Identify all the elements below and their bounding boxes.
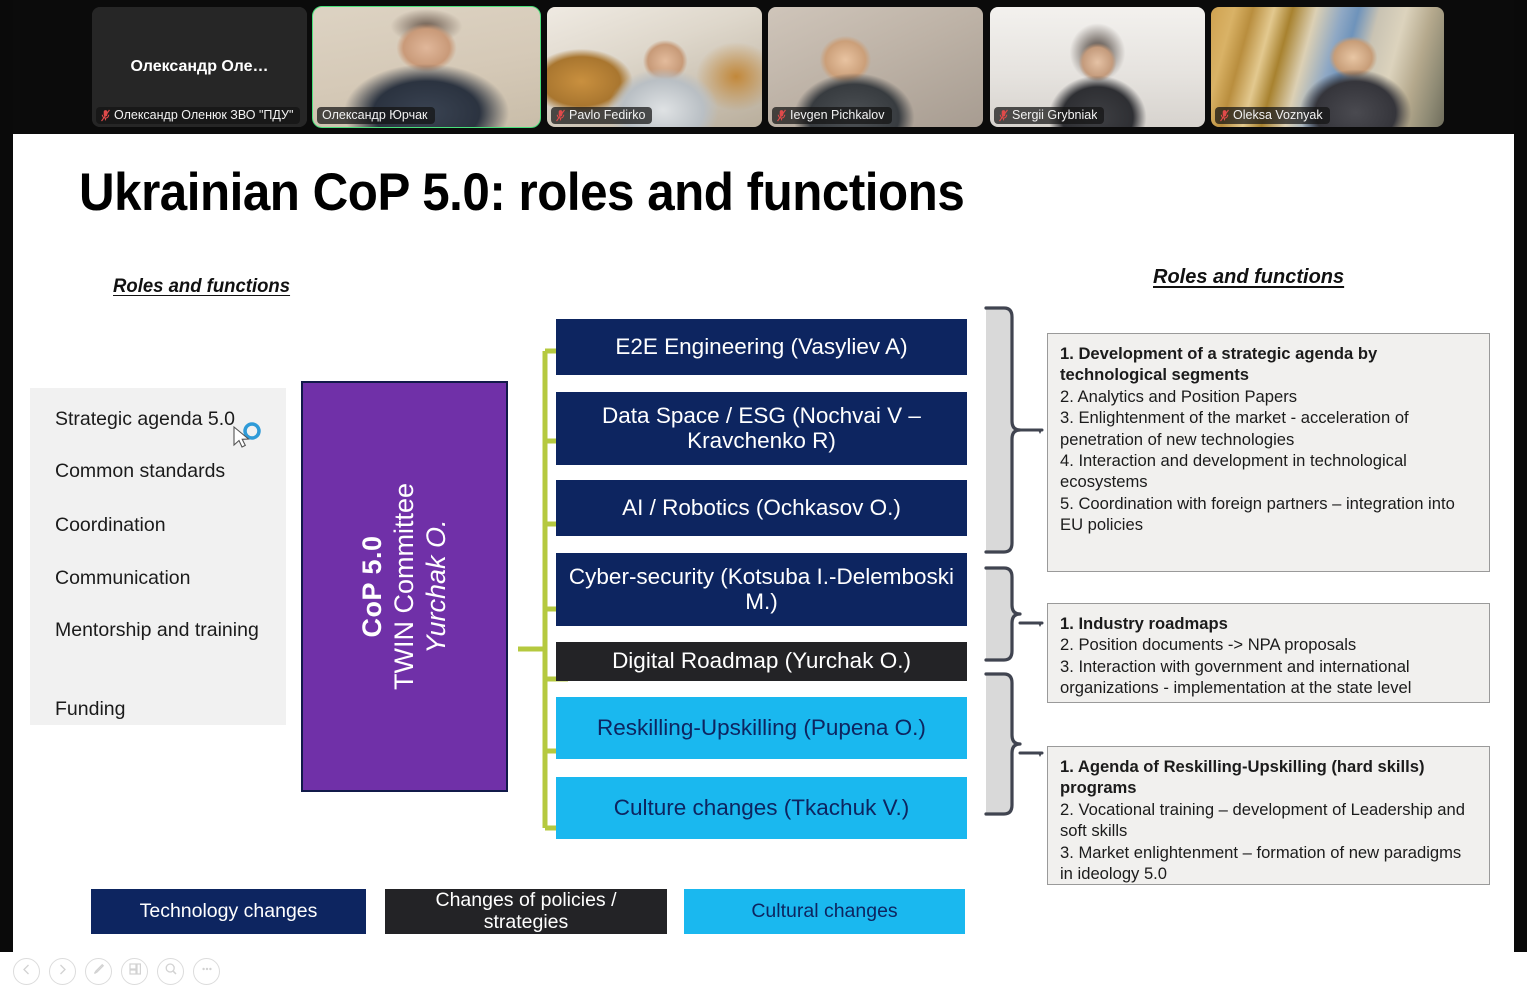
committee-label: Digital Roadmap (Yurchak O.): [612, 649, 911, 673]
roles-functions-info-box: 1. Industry roadmaps2. Position document…: [1047, 603, 1490, 703]
participant-name: Олександр Юрчак: [322, 108, 428, 122]
roles-and-functions-heading-right: Roles and functions: [1153, 266, 1344, 289]
info-box-line: 2. Vocational training – development of …: [1060, 799, 1478, 842]
video-tile-5[interactable]: Sergii Grybniak: [990, 7, 1205, 127]
annotate-pen-button[interactable]: [85, 958, 112, 985]
slide-grid-button[interactable]: [121, 958, 148, 985]
info-box-line: 5. Coordination with foreign partners – …: [1060, 493, 1478, 536]
participant-name-badge: Pavlo Fedirko: [551, 107, 652, 124]
participant-placeholder-name: Олександр Оле…: [92, 58, 307, 76]
participant-name-badge: Oleksa Voznyak: [1215, 107, 1330, 124]
info-box-line: 1. Agenda of Reskilling-Upskilling (hard…: [1060, 756, 1478, 799]
zoom-magnifier-button[interactable]: [157, 958, 184, 985]
legend-item: Technology changes: [91, 889, 366, 934]
info-box-line: 1. Industry roadmaps: [1060, 613, 1478, 634]
muted-microphone-icon: [101, 109, 110, 122]
legend-item: Changes of policies / strategies: [385, 889, 667, 934]
participant-name-badge: Ievgen Pichkalov: [772, 107, 892, 124]
mouse-cursor: [228, 422, 262, 452]
participant-name: Sergii Grybniak: [1012, 108, 1097, 122]
page-title: Ukrainian CoP 5.0: roles and functions: [79, 162, 964, 223]
roles-list-item: Mentorship and training: [55, 617, 276, 643]
roles-functions-info-box: 1. Agenda of Reskilling-Upskilling (hard…: [1047, 746, 1490, 885]
committee-lead-label: Yurchak O.: [421, 519, 452, 653]
committee-box[interactable]: E2E Engineering (Vasyliev A): [556, 319, 967, 375]
info-box-line: 2. Analytics and Position Papers: [1060, 386, 1478, 407]
committee-box[interactable]: Cyber-security (Kotsuba I.-Delemboski M.…: [556, 553, 967, 626]
more-options-icon: [200, 962, 214, 981]
committee-label: AI / Robotics (Ochkasov O.): [622, 496, 901, 520]
video-tile-1[interactable]: Олександр Оле…Олександр Оленюк ЗВО "ПДУ": [92, 7, 307, 127]
participant-name-badge: Олександр Оленюк ЗВО "ПДУ": [96, 107, 300, 124]
info-box-line: 2. Position documents -> NPA proposals: [1060, 634, 1478, 655]
info-box-line: 1. Development of a strategic agenda by …: [1060, 343, 1478, 386]
committee-box[interactable]: Culture changes (Tkachuk V.): [556, 777, 967, 839]
previous-slide-button[interactable]: [13, 958, 40, 985]
next-slide-button[interactable]: [49, 958, 76, 985]
muted-microphone-icon: [556, 109, 565, 122]
roles-list-item: Common standards: [55, 458, 276, 484]
participant-name: Олександр Оленюк ЗВО "ПДУ": [114, 108, 293, 122]
video-tile-3[interactable]: Pavlo Fedirko: [547, 7, 762, 127]
roles-list-item: Funding: [55, 696, 276, 722]
committee-box[interactable]: Data Space / ESG (Nochvai V – Kravchenko…: [556, 392, 967, 465]
roles-list-item: Communication: [55, 565, 276, 591]
participant-name-badge: Sergii Grybniak: [994, 107, 1104, 124]
roles-functions-info-box: 1. Development of a strategic agenda by …: [1047, 333, 1490, 572]
legend-label: Changes of policies / strategies: [391, 890, 661, 932]
video-participant-strip: Олександр Оле…Олександр Оленюк ЗВО "ПДУ"…: [0, 0, 1527, 134]
legend-item: Cultural changes: [684, 889, 965, 934]
twin-committee-label: TWIN Committee: [389, 483, 420, 690]
committee-box[interactable]: Digital Roadmap (Yurchak O.): [556, 642, 967, 681]
video-tile-6[interactable]: Oleksa Voznyak: [1211, 7, 1444, 127]
presentation-slide: Ukrainian CoP 5.0: roles and functions R…: [13, 134, 1514, 952]
committee-label: Cyber-security (Kotsuba I.-Delemboski M.…: [564, 565, 959, 614]
annotate-pen-icon: [92, 962, 106, 981]
next-slide-icon: [56, 963, 69, 981]
screen: Олександр Оле…Олександр Оленюк ЗВО "ПДУ"…: [0, 0, 1527, 991]
central-cop-committee-box[interactable]: CoP 5.0 TWIN Committee Yurchak O.: [301, 381, 508, 792]
legend-label: Technology changes: [140, 901, 318, 922]
video-tile-4[interactable]: Ievgen Pichkalov: [768, 7, 983, 127]
participant-name: Ievgen Pichkalov: [790, 108, 885, 122]
info-box-line: 3. Market enlightenment – formation of n…: [1060, 842, 1478, 885]
info-box-line: 4. Interaction and development in techno…: [1060, 450, 1478, 493]
committee-label: Culture changes (Tkachuk V.): [614, 796, 910, 820]
muted-microphone-icon: [777, 109, 786, 122]
muted-microphone-icon: [999, 109, 1008, 122]
committee-box[interactable]: Reskilling-Upskilling (Pupena O.): [556, 697, 967, 759]
committee-label: Reskilling-Upskilling (Pupena O.): [597, 716, 926, 740]
slide-left-letterbox: [0, 0, 13, 952]
presentation-toolbar: [0, 952, 1527, 991]
participant-name: Oleksa Voznyak: [1233, 108, 1323, 122]
info-box-line: 3. Enlightenment of the market - acceler…: [1060, 407, 1478, 450]
slide-right-letterbox: [1514, 0, 1527, 952]
cop-version-label: CoP 5.0: [357, 535, 388, 637]
committee-label: E2E Engineering (Vasyliev A): [615, 335, 907, 359]
central-cop-committee-label: CoP 5.0 TWIN Committee Yurchak O.: [357, 483, 452, 690]
slide-grid-icon: [128, 962, 142, 981]
more-options-button[interactable]: [193, 958, 220, 985]
previous-slide-icon: [20, 963, 33, 981]
legend-label: Cultural changes: [751, 901, 897, 922]
roles-and-functions-heading-left: Roles and functions: [113, 275, 290, 298]
muted-microphone-icon: [1220, 109, 1229, 122]
grouping-braces: [978, 302, 1048, 902]
zoom-magnifier-icon: [164, 962, 178, 981]
info-box-line: 3. Interaction with government and inter…: [1060, 656, 1478, 699]
committee-box[interactable]: AI / Robotics (Ochkasov O.): [556, 480, 967, 536]
roles-list-item: Coordination: [55, 512, 276, 538]
participant-name-badge: Олександр Юрчак: [317, 107, 435, 124]
participant-name: Pavlo Fedirko: [569, 108, 645, 122]
committee-label: Data Space / ESG (Nochvai V – Kravchenko…: [564, 404, 959, 453]
video-tile-2[interactable]: Олександр Юрчак: [313, 7, 540, 127]
